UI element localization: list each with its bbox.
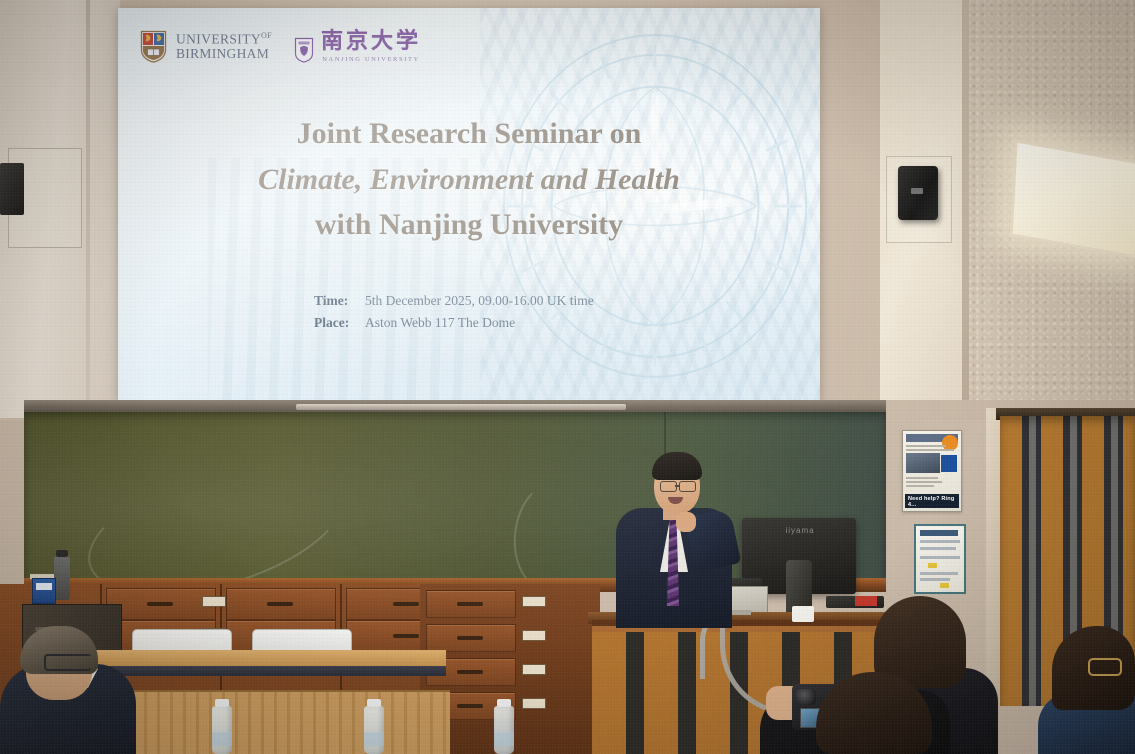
monitor-brand-label: iiyama: [774, 526, 826, 535]
power-adapter: [792, 606, 814, 622]
thermos-bottle: [54, 556, 70, 600]
wall-poster-notice: Need help? Ring 4...: [902, 430, 962, 512]
left-wall-edge: [86, 0, 90, 418]
presenter-hair: [652, 452, 702, 480]
supply-box: [32, 578, 56, 604]
camera-lens-icon: [796, 689, 816, 705]
slide-title-line-3: with Nanjing University: [118, 202, 820, 248]
presenter-hand: [676, 512, 696, 532]
uob-line1-sup: OF: [261, 31, 272, 40]
slide-detail-time: Time: 5th December 2025, 09.00-16.00 UK …: [314, 290, 594, 312]
water-bottle: [494, 706, 514, 754]
presenter-glasses-right-lens-icon: [679, 481, 696, 492]
wall-poster-form: [914, 524, 966, 594]
logo-nanjing-university: 南京大学 NANJING UNIVERSITY: [294, 31, 421, 63]
nanjing-chinese-name: 南京大学: [321, 31, 421, 53]
logo-university-of-birmingham: UNIVERSITYOF BIRMINGHAM: [140, 30, 272, 63]
slide-detail-place: Place: Aston Webb 117 The Dome: [314, 312, 594, 334]
red-warning-label: [855, 596, 877, 606]
time-value: 5th December 2025, 09.00-16.00 UK time: [365, 290, 594, 312]
projection-screen: UNIVERSITYOF BIRMINGHAM 南京大学 NANJING UNI…: [118, 8, 820, 400]
front-desk-frame: [86, 666, 446, 676]
slide-title-line-2: Climate, Environment and Health: [118, 157, 820, 203]
slide-details-block: Time: 5th December 2025, 09.00-16.00 UK …: [314, 290, 594, 334]
uob-line2: BIRMINGHAM: [176, 47, 272, 61]
birmingham-wordmark: UNIVERSITYOF BIRMINGHAM: [176, 32, 272, 60]
front-bench-panel: [82, 690, 450, 754]
time-label: Time:: [314, 290, 358, 312]
slide-logo-row: UNIVERSITYOF BIRMINGHAM 南京大学 NANJING UNI…: [140, 30, 421, 63]
nanjing-shield-icon: [294, 37, 314, 63]
nanjing-english-name: NANJING UNIVERSITY: [322, 56, 420, 63]
presenter-glasses-bridge: [675, 485, 679, 487]
place-label: Place:: [314, 312, 358, 334]
nanjing-wordmark: 南京大学 NANJING UNIVERSITY: [321, 31, 421, 63]
place-value: Aston Webb 117 The Dome: [365, 312, 515, 334]
right-wall-seam: [962, 0, 969, 400]
water-bottle: [364, 706, 384, 754]
wall-speaker-icon: [898, 166, 938, 220]
slide-title-block: Joint Research Seminar on Climate, Envir…: [118, 111, 820, 248]
left-wall-speaker-icon: [0, 163, 24, 215]
uob-line1: UNIVERSITY: [176, 32, 261, 47]
screen-roller-bar: [296, 404, 626, 410]
photograph-scene: UNIVERSITYOF BIRMINGHAM 南京大学 NANJING UNI…: [0, 0, 1135, 754]
audience-member-right-glasses-icon: [1088, 658, 1122, 676]
water-bottle: [212, 706, 232, 754]
birmingham-crest-icon: [140, 30, 167, 63]
poster-banner-text: Need help? Ring 4...: [908, 496, 959, 508]
audience-member-left-glasses-icon: [44, 654, 92, 671]
slide-title-line-1: Joint Research Seminar on: [118, 111, 820, 157]
